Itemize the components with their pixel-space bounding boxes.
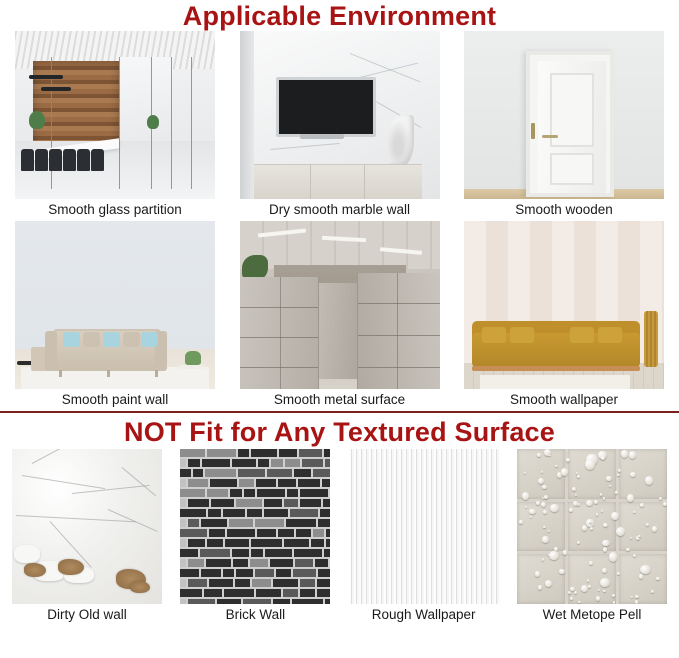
brick: [315, 559, 328, 567]
caption-wet-metope-pell: Wet Metope Pell: [543, 604, 642, 626]
brick: [313, 529, 324, 537]
brick: [235, 579, 250, 587]
locker-seam: [358, 335, 440, 336]
brick: [223, 569, 234, 577]
water-droplet: [630, 537, 632, 539]
water-droplet: [602, 540, 609, 547]
water-droplet: [573, 501, 578, 506]
brick: [232, 459, 256, 467]
brick: [283, 589, 298, 597]
brick: [323, 499, 330, 507]
locker-divider: [280, 277, 281, 389]
water-droplet: [543, 510, 547, 514]
brick: [298, 479, 320, 487]
cell-smooth-glass-partition: Smooth glass partition: [15, 31, 215, 221]
locker-seam: [358, 303, 440, 304]
water-droplet: [589, 521, 592, 523]
locker-bank-right: [357, 273, 440, 389]
brick: [251, 539, 282, 547]
wall-side-panel: [240, 31, 254, 199]
brick: [233, 559, 248, 567]
brick: [265, 549, 292, 557]
brick: [318, 519, 330, 527]
brick: [204, 589, 222, 597]
sofa-cushion: [598, 327, 622, 343]
beige-pillow: [83, 332, 100, 347]
brick: [256, 479, 276, 487]
water-droplet: [577, 475, 579, 478]
sofa-cushion: [482, 327, 506, 343]
caption-smooth-paint-wall: Smooth paint wall: [62, 389, 169, 411]
door-latch-plate: [531, 123, 535, 139]
striped-rough-wallpaper-photo: [349, 449, 499, 604]
office-chair: [21, 149, 34, 171]
brick: [257, 529, 276, 537]
water-droplet: [639, 574, 643, 578]
white-wooden-door-photo: [464, 31, 664, 199]
water-droplet: [566, 458, 570, 462]
brick: [180, 489, 205, 497]
sofa-cushion: [570, 327, 594, 343]
brick: [210, 479, 237, 487]
brick: [273, 579, 298, 587]
brick-row: [180, 519, 330, 527]
sofa-leg: [59, 370, 62, 377]
brick: [264, 509, 288, 517]
brick-row: [180, 549, 330, 557]
water-droplet: [615, 491, 618, 493]
brick: [257, 489, 285, 497]
brick: [317, 589, 330, 597]
brick: [325, 599, 330, 604]
brick-row: [180, 579, 330, 587]
cell-smooth-metal-surface: Smooth metal surface: [240, 221, 440, 411]
blue-pillow: [103, 332, 120, 347]
brick-row: [180, 499, 330, 507]
dark-brick-wall-photo: [180, 449, 330, 604]
cell-brick-wall: Brick Wall: [180, 449, 330, 626]
brick: [188, 459, 200, 467]
cell-smooth-paint-wall: Smooth paint wall: [15, 221, 215, 411]
wall-tile: [619, 502, 667, 552]
blue-pillow: [141, 332, 158, 347]
brick-row: [180, 469, 330, 477]
brick: [211, 499, 234, 507]
cabinet-panel-line: [310, 165, 311, 199]
brick: [180, 449, 205, 457]
brick-row: [180, 459, 330, 467]
infographic-page: Applicable Environment: [0, 0, 679, 658]
water-droplet: [543, 526, 546, 529]
brick: [270, 559, 293, 567]
brick: [180, 509, 206, 517]
brick: [258, 459, 269, 467]
water-droplet: [542, 536, 548, 543]
water-droplet: [561, 468, 568, 476]
brick: [251, 549, 263, 557]
water-droplet: [603, 523, 608, 527]
water-droplet: [603, 547, 608, 552]
brick: [300, 579, 315, 587]
cracked-peeling-plaster-photo: [12, 449, 162, 604]
brick: [255, 519, 284, 527]
cell-rough-wallpaper: Rough Wallpaper: [349, 449, 499, 626]
brick: [276, 569, 291, 577]
potted-plant: [185, 351, 201, 365]
brick: [278, 479, 296, 487]
applicable-row-2: Smooth paint wall: [0, 221, 679, 411]
caption-brick-wall: Brick Wall: [226, 604, 286, 626]
wall-crack: [16, 515, 136, 522]
brick: [318, 569, 330, 577]
brick: [188, 539, 205, 547]
brick-row: [180, 559, 330, 567]
brick: [247, 509, 262, 517]
office-metal-lockers-photo: [240, 221, 440, 389]
potted-plant: [147, 115, 159, 129]
brick: [223, 509, 245, 517]
wall-crack: [72, 485, 150, 494]
marble-wall-tv-photo: [240, 31, 440, 199]
water-droplet: [601, 456, 605, 460]
caption-dry-smooth-marble-wall: Dry smooth marble wall: [269, 199, 410, 221]
water-droplet: [519, 520, 523, 524]
brick: [236, 569, 253, 577]
brick: [294, 549, 322, 557]
brick: [236, 499, 262, 507]
striped-wallpaper-sofa-photo: [464, 221, 664, 389]
brick: [180, 549, 198, 557]
brick: [188, 499, 209, 507]
pendant-lamp: [29, 75, 63, 79]
brick: [300, 489, 328, 497]
brick: [302, 459, 323, 467]
brick: [224, 589, 254, 597]
brick: [209, 579, 233, 587]
sofa-leg: [107, 370, 110, 377]
brick: [255, 569, 274, 577]
door-handle: [542, 135, 558, 138]
water-droplet: [559, 569, 565, 575]
brick: [207, 489, 228, 497]
applicable-environment-title: Applicable Environment: [0, 0, 679, 31]
brick: [284, 499, 298, 507]
caption-smooth-glass-partition: Smooth glass partition: [48, 199, 182, 221]
door-slab: [538, 61, 606, 193]
brick-row: [180, 569, 330, 577]
cell-dry-smooth-marble-wall: Dry smooth marble wall: [240, 31, 440, 221]
brick: [326, 529, 330, 537]
brick: [287, 489, 298, 497]
water-droplet: [576, 472, 578, 474]
sofa-cushion: [510, 327, 534, 343]
brick: [320, 509, 330, 517]
water-droplet: [575, 494, 577, 496]
brick: [300, 589, 315, 597]
brick: [295, 559, 313, 567]
water-droplet: [570, 587, 574, 591]
water-droplet: [606, 476, 611, 482]
sofa-leg: [155, 370, 158, 377]
brick: [285, 459, 300, 467]
water-droplet: [585, 459, 595, 470]
caption-smooth-wallpaper: Smooth wallpaper: [510, 389, 618, 411]
brick: [227, 529, 255, 537]
blue-pillow: [63, 332, 80, 347]
plaster-chip: [14, 545, 40, 563]
office-chair: [77, 149, 90, 171]
caption-dirty-old-wall: Dirty Old wall: [47, 604, 127, 626]
brick-row: [180, 509, 330, 517]
brick: [188, 519, 199, 527]
brick: [286, 519, 316, 527]
marble-vein: [359, 62, 417, 77]
wall-crack: [22, 475, 105, 489]
water-droplet: [587, 579, 590, 582]
water-droplet: [530, 516, 532, 518]
brick: [207, 449, 236, 457]
brick: [217, 599, 241, 604]
sofa-base: [472, 366, 640, 371]
tv-cabinet: [254, 164, 422, 199]
brick: [279, 449, 297, 457]
brick: [325, 459, 330, 467]
brick: [250, 559, 268, 567]
brick: [256, 589, 281, 597]
water-droplet: [563, 550, 568, 555]
brick: [271, 459, 283, 467]
exposed-substrate: [58, 559, 84, 575]
office-chair: [35, 149, 48, 171]
brick: [180, 569, 199, 577]
water-droplet: [600, 493, 603, 496]
locker-divider: [397, 273, 398, 389]
floor-lamp: [644, 311, 658, 367]
brick: [299, 449, 322, 457]
brick: [296, 529, 311, 537]
brick: [188, 599, 215, 604]
cell-dirty-old-wall: Dirty Old wall: [12, 449, 162, 626]
cell-smooth-wallpaper: Smooth wallpaper: [464, 221, 664, 411]
brick: [180, 469, 191, 477]
brick: [230, 489, 242, 497]
wall-tile: [517, 554, 565, 604]
door-frame: [526, 51, 614, 197]
brick: [284, 539, 309, 547]
brick: [225, 539, 249, 547]
brick: [202, 459, 230, 467]
locker-seam: [240, 367, 318, 368]
brick: [264, 499, 282, 507]
locker-seam: [358, 367, 440, 368]
brick-row: [180, 599, 330, 604]
brick: [188, 559, 204, 567]
brick: [293, 569, 316, 577]
water-droplet: [535, 571, 540, 577]
sofa-armrest: [45, 331, 57, 371]
side-table-right: [179, 365, 205, 369]
brick: [278, 529, 294, 537]
brick: [267, 469, 292, 477]
water-droplet: [635, 595, 638, 598]
caption-smooth-wooden: Smooth wooden: [515, 199, 613, 221]
brick: [324, 449, 330, 457]
brick: [201, 569, 221, 577]
office-chair: [49, 149, 62, 171]
brick: [252, 579, 271, 587]
tv-base: [300, 134, 344, 139]
brick: [238, 469, 265, 477]
exposed-substrate: [24, 563, 46, 577]
brick: [251, 449, 277, 457]
brick: [200, 549, 230, 557]
brick: [208, 509, 221, 517]
office-chair: [63, 149, 76, 171]
water-droplet: [612, 594, 615, 596]
water-droplet: [586, 500, 593, 506]
brick: [244, 489, 255, 497]
brick: [201, 519, 227, 527]
glass-pane-edge: [119, 57, 120, 189]
water-droplet: [522, 492, 529, 500]
brick: [232, 549, 249, 557]
brick: [322, 479, 330, 487]
water-droplet: [609, 552, 617, 562]
brick: [311, 539, 324, 547]
cell-smooth-wooden: Smooth wooden: [464, 31, 664, 221]
brick: [180, 589, 202, 597]
cell-wet-metope-pell: Wet Metope Pell: [517, 449, 667, 626]
caption-rough-wallpaper: Rough Wallpaper: [372, 604, 476, 626]
ceiling-tiles: [240, 221, 440, 269]
brick-row: [180, 529, 330, 537]
brick-row: [180, 539, 330, 547]
pendant-lamp: [41, 87, 71, 91]
locker-bank-middle: [318, 283, 360, 379]
decorative-sculpture: [388, 115, 414, 167]
painted-wall-sofa-photo: [15, 221, 215, 389]
beige-pillow: [123, 332, 140, 347]
notfit-row-1: Dirty Old wall Brick Wall Rough Wallpape…: [0, 449, 679, 626]
office-glass-partition-photo: [15, 31, 215, 199]
wall-crack: [32, 449, 77, 464]
water-droplet: [550, 504, 558, 512]
brick: [238, 449, 249, 457]
brick: [207, 539, 223, 547]
office-chair: [91, 149, 104, 171]
water-droplet: [588, 585, 591, 588]
caption-smooth-metal-surface: Smooth metal surface: [274, 389, 405, 411]
marble-vein: [269, 143, 339, 150]
brick: [326, 539, 330, 547]
wall-crack: [122, 467, 156, 496]
applicable-row-1: Smooth glass partition Dry smooth marble…: [0, 31, 679, 221]
water-droplet: [555, 465, 558, 467]
brick-row: [180, 449, 330, 457]
not-fit-title: NOT Fit for Any Textured Surface: [0, 413, 679, 449]
brick: [324, 549, 330, 557]
cabinet-panel-line: [364, 165, 365, 199]
brick-row: [180, 479, 330, 487]
brick: [273, 599, 290, 604]
water-droplet: [663, 502, 667, 506]
brick: [229, 519, 253, 527]
brick: [180, 529, 207, 537]
locker-seam: [240, 337, 318, 338]
brick: [188, 479, 208, 487]
water-droplet: [621, 450, 628, 458]
area-rug: [480, 375, 630, 389]
brick: [290, 509, 318, 517]
wall-mounted-tv: [276, 77, 376, 137]
brick-row: [180, 589, 330, 597]
glass-pane-edge: [191, 57, 192, 189]
water-droplet: [627, 494, 634, 501]
water-droplet: [537, 453, 541, 457]
brick: [300, 499, 321, 507]
brick: [294, 469, 311, 477]
brick: [188, 579, 207, 587]
brick: [243, 599, 271, 604]
door-lower-panel: [550, 153, 594, 185]
water-droplet: [638, 535, 640, 538]
wet-tiled-wall-photo: [517, 449, 667, 604]
brick: [206, 559, 231, 567]
brick: [239, 479, 254, 487]
water-droplet: [545, 497, 547, 499]
glass-pane-edge: [171, 57, 172, 189]
brick: [209, 529, 225, 537]
exposed-substrate: [130, 581, 150, 593]
water-droplet: [581, 585, 588, 592]
brick: [193, 469, 203, 477]
water-droplet: [549, 551, 559, 561]
water-droplet: [538, 585, 542, 590]
brick: [205, 469, 236, 477]
brick: [317, 579, 330, 587]
water-droplet: [598, 589, 600, 591]
brick: [292, 599, 323, 604]
brick-row: [180, 489, 330, 497]
potted-plant: [29, 111, 45, 129]
water-droplet: [541, 502, 546, 507]
locker-seam: [240, 307, 318, 308]
brick: [313, 469, 330, 477]
water-droplet: [659, 497, 662, 500]
